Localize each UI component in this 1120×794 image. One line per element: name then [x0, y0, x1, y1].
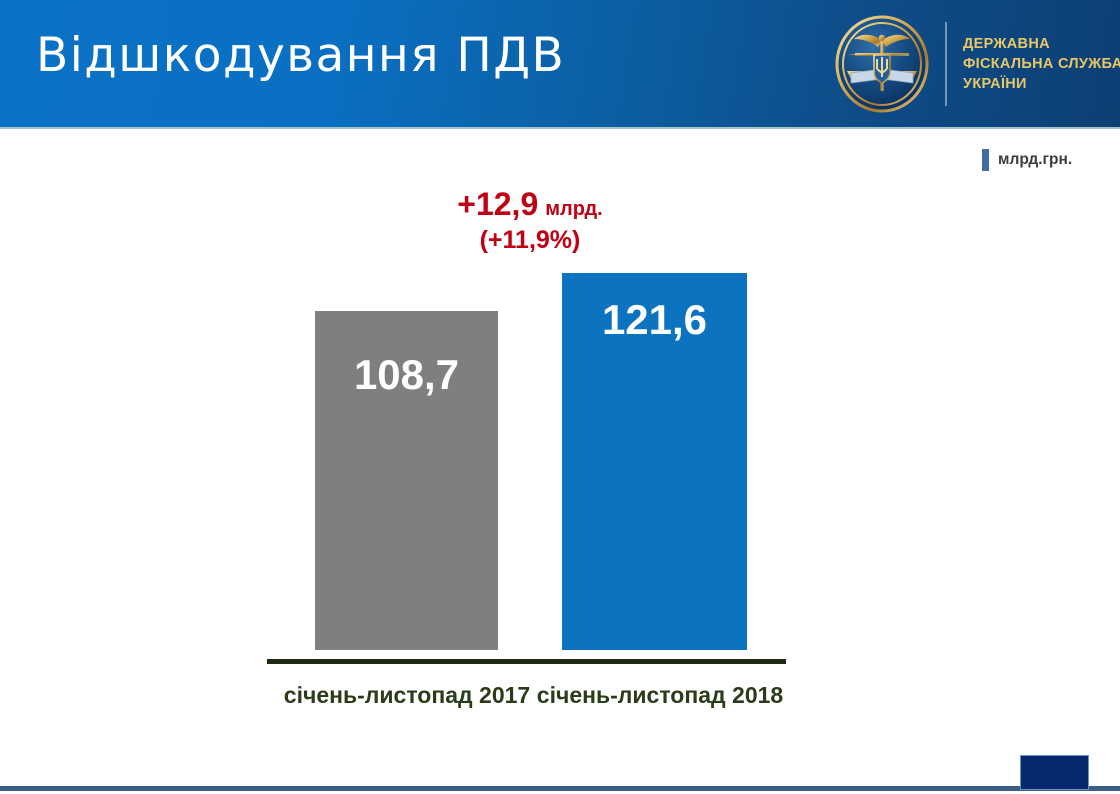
unit-legend-label: млрд.грн. [998, 151, 1072, 169]
slide-canvas: Відшкодування ПДВ [0, 0, 1120, 794]
growth-annotation: +12,9млрд. (+11,9%) [380, 186, 680, 255]
growth-annotation-absolute: +12,9млрд. [380, 186, 680, 223]
bar-series-2018[interactable]: 121,6 [562, 273, 747, 650]
header-underline [0, 127, 1120, 129]
growth-unit: млрд. [545, 198, 602, 220]
footer-divider [0, 786, 1120, 791]
organization-logo: ДЕРЖАВНА ФІСКАЛЬНА СЛУЖБА УКРАЇНИ [833, 12, 1111, 116]
logo-divider [945, 22, 947, 106]
organization-name-line-1: ДЕРЖАВНА [963, 34, 1120, 54]
page-title: Відшкодування ПДВ [36, 28, 565, 83]
x-axis-line [267, 659, 786, 664]
category-label-2017: січень-листопад 2017 [276, 679, 538, 711]
bar-series-2017[interactable]: 108,7 [315, 311, 498, 650]
unit-marker-icon [982, 149, 989, 171]
organization-name-line-2: ФІСКАЛЬНА СЛУЖБА [963, 54, 1120, 74]
ukraine-fiscal-service-emblem-icon [833, 15, 931, 113]
category-label-2018: січень-листопад 2018 [529, 679, 791, 711]
bar-value-label-2018: 121,6 [562, 296, 747, 344]
footer-accent-box [1020, 755, 1089, 790]
organization-name: ДЕРЖАВНА ФІСКАЛЬНА СЛУЖБА УКРАЇНИ [963, 34, 1120, 94]
growth-percent: (+11,9%) [380, 226, 680, 255]
organization-name-line-3: УКРАЇНИ [963, 74, 1120, 94]
bar-value-label-2017: 108,7 [315, 351, 498, 399]
unit-legend: млрд.грн. [982, 149, 1072, 171]
growth-value: +12,9 [457, 186, 538, 222]
